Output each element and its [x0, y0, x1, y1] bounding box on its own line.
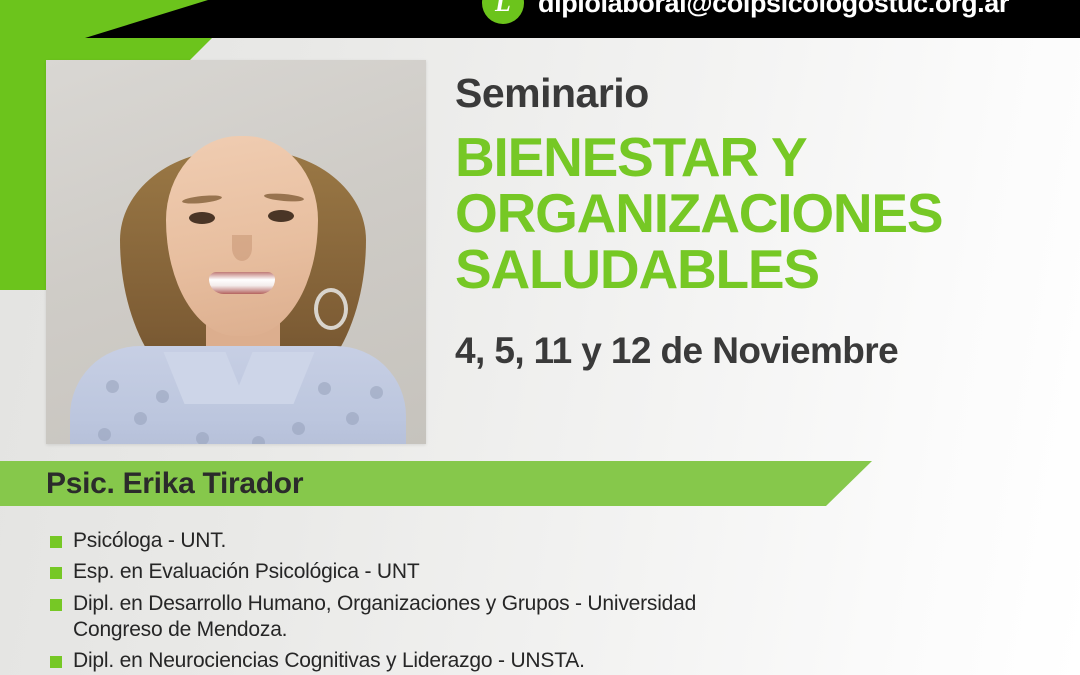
portrait-lace-dot: [252, 436, 265, 444]
speaker-name-banner: Psic. Erika Tirador: [0, 461, 872, 506]
title-line-1: BIENESTAR Y: [455, 129, 1055, 185]
portrait-lace-dot: [98, 428, 111, 441]
mail-badge-icon: L: [482, 0, 524, 24]
portrait-nose: [232, 235, 252, 261]
event-dates: 4, 5, 11 y 12 de Noviembre: [455, 331, 1055, 372]
list-item: Psicóloga - UNT.: [50, 528, 850, 554]
portrait-lace-dot: [196, 432, 209, 444]
bullet-square-icon: [50, 656, 62, 668]
headline-block: Seminario BIENESTAR Y ORGANIZACIONES SAL…: [455, 72, 1055, 372]
portrait-earring: [314, 288, 348, 330]
list-item: Dipl. en Neurociencias Cognitivas y Lide…: [50, 648, 850, 674]
seminar-poster: L diplolaboral@colpsicologostuc.org.ar: [0, 0, 1080, 675]
contact-row: L diplolaboral@colpsicologostuc.org.ar: [482, 0, 1009, 22]
speaker-name: Psic. Erika Tirador: [46, 467, 303, 501]
portrait-lace-dot: [156, 390, 169, 403]
portrait-lace-dot: [134, 412, 147, 425]
bullet-square-icon: [50, 599, 62, 611]
list-item: Esp. en Evaluación Psicológica - UNT: [50, 559, 850, 585]
speaker-portrait: [46, 60, 426, 444]
portrait-eye-right: [268, 210, 294, 222]
bullet-square-icon: [50, 536, 62, 548]
portrait-lace-dot: [106, 380, 119, 393]
credentials-list: Psicóloga - UNT. Esp. en Evaluación Psic…: [50, 528, 850, 675]
portrait-lace-dot: [292, 422, 305, 435]
credential-text: Psicóloga - UNT.: [73, 528, 226, 554]
portrait-mouth: [209, 272, 275, 294]
list-item: Dipl. en Desarrollo Humano, Organizacion…: [50, 591, 850, 644]
portrait-lace-dot: [346, 412, 359, 425]
bullet-square-icon: [50, 567, 62, 579]
credential-text: Dipl. en Neurociencias Cognitivas y Lide…: [73, 648, 585, 674]
mail-badge-glyph: L: [482, 0, 524, 24]
kicker-label: Seminario: [455, 72, 1055, 115]
portrait-eye-left: [189, 212, 215, 224]
contact-email[interactable]: diplolaboral@colpsicologostuc.org.ar: [538, 0, 1009, 19]
portrait-lace-dot: [370, 386, 383, 399]
portrait-lace-dot: [318, 382, 331, 395]
credential-text: Dipl. en Desarrollo Humano, Organizacion…: [73, 591, 773, 644]
credential-text: Esp. en Evaluación Psicológica - UNT: [73, 559, 419, 585]
title-line-2: ORGANIZACIONES: [455, 185, 1055, 241]
title-line-3: SALUDABLES: [455, 241, 1055, 297]
page-title: BIENESTAR Y ORGANIZACIONES SALUDABLES: [455, 129, 1055, 297]
